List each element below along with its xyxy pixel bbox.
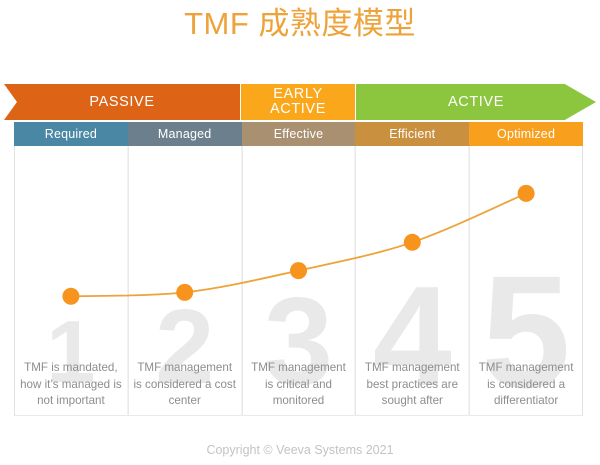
stage-header-efficient: Efficient: [355, 122, 469, 146]
stage-caption-5: TMF management is considered a different…: [474, 360, 578, 410]
phase-early-active: EARLY ACTIVE: [241, 84, 355, 120]
stage-column-2: Managed 2 TMF management is considered a…: [128, 122, 242, 416]
maturity-stage-table: Required 1 TMF is mandated, how it’s man…: [14, 122, 583, 416]
stage-body-3: 3 TMF management is critical and monitor…: [242, 146, 356, 416]
phase-active: ACTIVE: [356, 84, 596, 120]
stage-header-effective: Effective: [242, 122, 356, 146]
phase-active-label: ACTIVE: [448, 95, 504, 110]
stage-body-1: 1 TMF is mandated, how it’s managed is n…: [14, 146, 128, 416]
copyright-footer: Copyright © Veeva Systems 2021: [0, 443, 600, 457]
phase-early-active-line1: EARLY: [270, 87, 326, 102]
stage-caption-1: TMF is mandated, how it’s managed is not…: [19, 360, 123, 410]
phase-passive-label: PASSIVE: [89, 95, 154, 110]
stage-body-2: 2 TMF management is considered a cost ce…: [128, 146, 242, 416]
phase-early-active-line2: ACTIVE: [270, 102, 326, 117]
phase-passive: PASSIVE: [4, 84, 240, 120]
stage-body-4: 4 TMF management best practices are soug…: [355, 146, 469, 416]
stage-header-required: Required: [14, 122, 128, 146]
stage-column-5: Optimized 5 TMF management is considered…: [469, 122, 583, 416]
stage-caption-3: TMF management is critical and monitored: [247, 360, 351, 410]
stage-column-3: Effective 3 TMF management is critical a…: [242, 122, 356, 416]
stage-caption-2: TMF management is considered a cost cent…: [133, 360, 237, 410]
maturity-phase-banner: PASSIVE EARLY ACTIVE ACTIVE: [0, 84, 600, 120]
stage-header-optimized: Optimized: [469, 122, 583, 146]
stage-body-5: 5 TMF management is considered a differe…: [469, 146, 583, 416]
stage-column-4: Efficient 4 TMF management best practice…: [355, 122, 469, 416]
phase-early-active-label: EARLY ACTIVE: [270, 87, 326, 117]
stage-header-managed: Managed: [128, 122, 242, 146]
page-title: TMF 成熟度模型: [0, 5, 600, 43]
stage-column-1: Required 1 TMF is mandated, how it’s man…: [14, 122, 128, 416]
stage-caption-4: TMF management best practices are sought…: [360, 360, 464, 410]
